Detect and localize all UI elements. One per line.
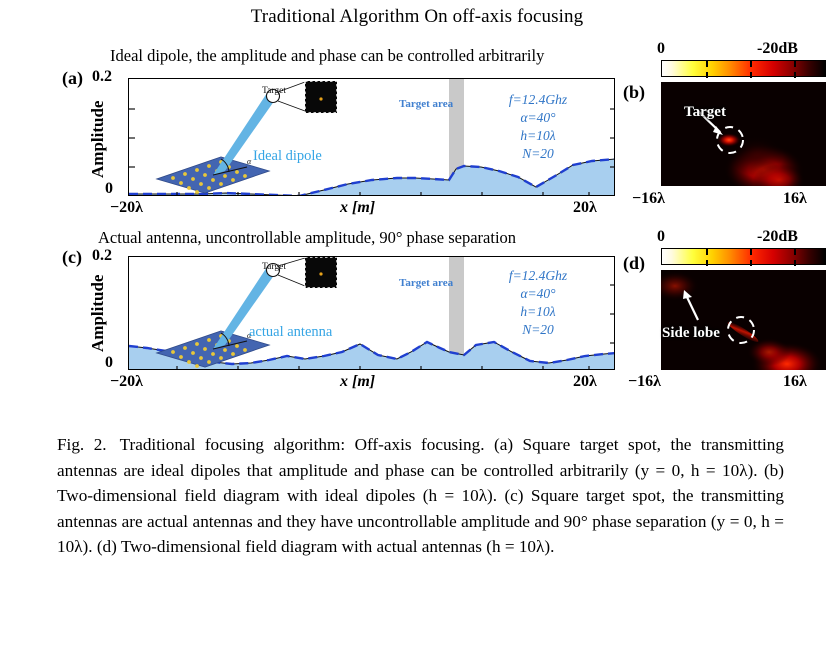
panel-c-target-area-label: Target area (399, 277, 453, 289)
panel-c-xmin: −20λ (110, 373, 143, 391)
panel-b-xmax: 16λ (783, 190, 807, 208)
panel-c-ytick-top: 0.2 (92, 247, 112, 265)
panel-a-tag: (a) (62, 68, 83, 89)
panel-d-heatmap (661, 270, 826, 370)
panel-a-param-count: N=20 (495, 146, 581, 162)
panel-c-param-alpha: α=40° (495, 286, 581, 302)
panel-c-param-height: h=10λ (495, 304, 581, 320)
panel-d-colorbar (661, 248, 826, 265)
caption-lead: Fig. 2. (57, 435, 107, 454)
panel-c-xmax: 20λ (573, 373, 597, 391)
panel-b-cbar-min: 0 (657, 40, 665, 58)
panel-b-xmin: −16λ (632, 190, 665, 208)
panel-a-xmin: −20λ (110, 199, 143, 217)
panel-b-field-svg (661, 82, 826, 186)
panel-c-tag: (c) (62, 247, 82, 268)
figure-caption: Fig. 2.Traditional focusing algorithm: O… (57, 432, 784, 560)
panel-d-field-svg (661, 270, 826, 370)
panel-a-inset-angle-label: α (247, 157, 251, 166)
panel-a-ytick-bottom: 0 (105, 180, 113, 198)
panel-a-antenna-label: Ideal dipole (253, 148, 322, 165)
panel-a-title: Ideal dipole, the amplitude and phase ca… (110, 46, 544, 66)
panel-b-heatmap (661, 82, 826, 186)
panel-a-param-alpha: α=40° (495, 110, 581, 126)
panel-a-ytick-top: 0.2 (92, 68, 112, 86)
panel-a-ylabel: Amplitude (88, 101, 108, 178)
panel-d-xmax: 16λ (783, 373, 807, 391)
figure-root: Traditional Algorithm On off-axis focusi… (0, 0, 834, 662)
panel-b-tag: (b) (623, 82, 645, 103)
panel-c-param-count: N=20 (495, 322, 581, 338)
panel-d-cbar-min: 0 (657, 228, 665, 246)
panel-d-xmin: −16λ (628, 373, 661, 391)
panel-d-cbar-max: -20dB (757, 228, 798, 246)
panel-b-colorbar (661, 60, 826, 77)
panel-c-inset-target-label: Target (262, 262, 286, 272)
figure-main-title: Traditional Algorithm On off-axis focusi… (0, 6, 834, 28)
panel-a-inset-target-label: Target (262, 86, 286, 96)
panel-a-param-height: h=10λ (495, 128, 581, 144)
panel-c-ylabel: Amplitude (88, 275, 108, 352)
caption-body: Traditional focusing algorithm: Off-axis… (57, 435, 784, 556)
panel-d-annotation: Side lobe (662, 325, 720, 342)
panel-c-title: Actual antenna, uncontrollable amplitude… (98, 228, 516, 248)
panel-c-ytick-bottom: 0 (105, 354, 113, 372)
panel-a-target-area-label: Target area (399, 98, 453, 110)
panel-b-annotation: Target (684, 104, 726, 121)
panel-c-xlabel: x [m] (340, 373, 375, 391)
panel-a-xmax: 20λ (573, 199, 597, 217)
panel-b-cbar-max: -20dB (757, 40, 798, 58)
panel-c-yticks (610, 285, 615, 343)
panel-c-param-frequency: f=12.4Ghz (495, 268, 581, 284)
panel-c-inset-antenna (157, 257, 337, 368)
panel-a-param-frequency: f=12.4Ghz (495, 92, 581, 108)
panel-c-antenna-label: actual antenna (249, 324, 332, 341)
panel-a-xlabel: x [m] (340, 199, 375, 217)
panel-d-tag: (d) (623, 253, 645, 274)
panel-a-inset-antenna (157, 81, 337, 194)
